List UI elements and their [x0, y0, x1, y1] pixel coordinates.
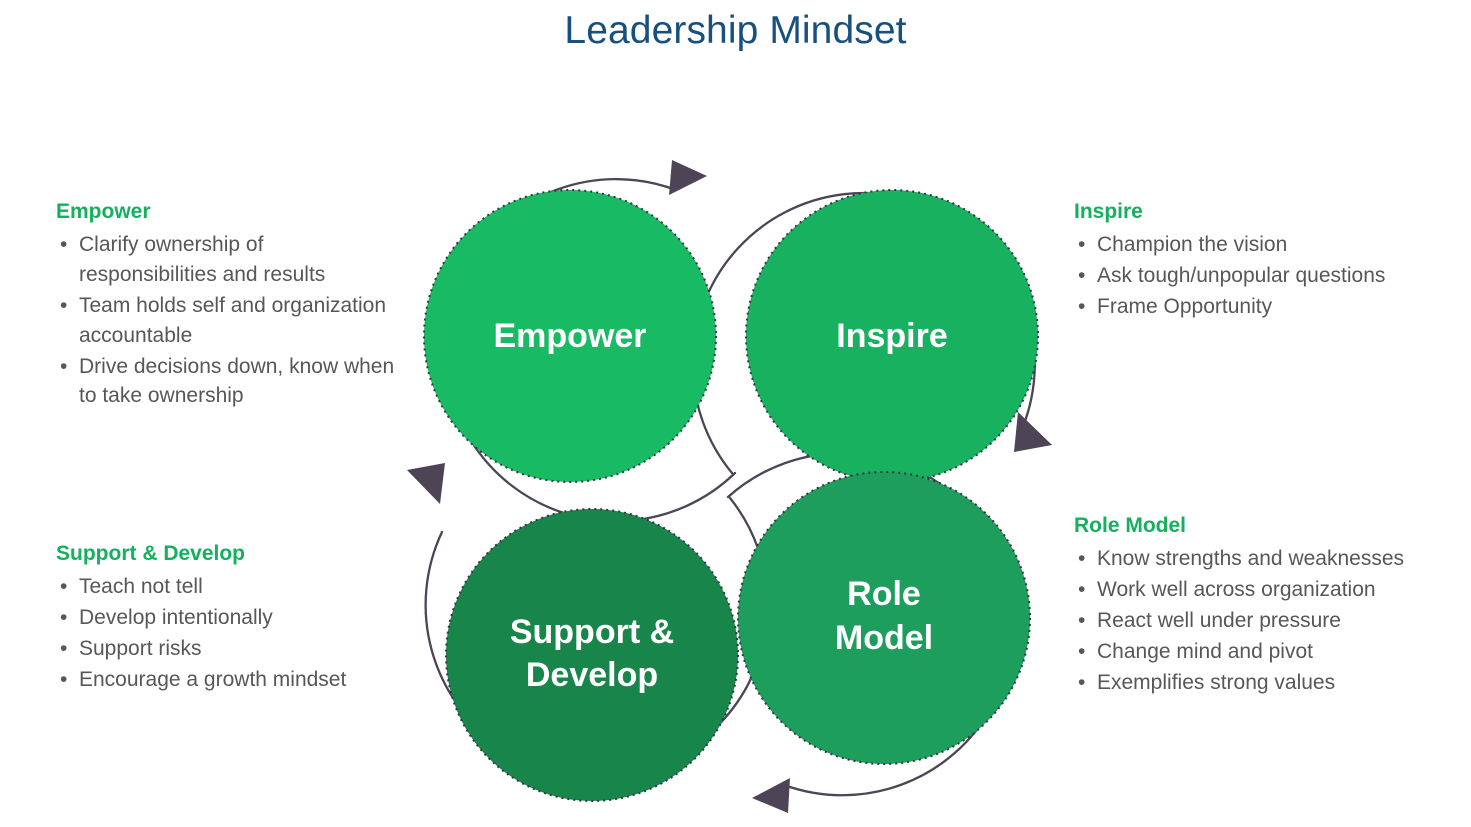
list-item-text: Frame Opportunity — [1097, 295, 1272, 318]
bullet-icon: • — [60, 230, 67, 260]
list-item: •Frame Opportunity — [1074, 292, 1454, 322]
list-item: •Change mind and pivot — [1074, 637, 1464, 667]
panel-role-model: Role Model •Know strengths and weaknesse… — [1074, 512, 1464, 698]
list-item-text: Clarify ownership of responsibilities an… — [79, 233, 325, 286]
list-item-text: Teach not tell — [79, 575, 203, 598]
list-item-text: Know strengths and weaknesses — [1097, 547, 1404, 570]
list-item: •Teach not tell — [56, 572, 401, 602]
panel-inspire: Inspire •Champion the vision •Ask tough/… — [1074, 198, 1454, 323]
node-empower[interactable]: Empower — [424, 190, 716, 482]
list-item: • React well under pressure — [1074, 606, 1464, 636]
list-item-text: Change mind and pivot — [1097, 640, 1313, 663]
cycle-diagram: Empower Inspire Support & Develop Role M… — [380, 140, 1080, 827]
list-item: •Encourage a growth mindset — [56, 665, 401, 695]
node-support-develop[interactable]: Support & Develop — [446, 509, 738, 801]
list-item: •Develop intentionally — [56, 603, 401, 633]
bullet-icon: • — [60, 291, 67, 321]
node-role-model[interactable]: Role Model — [738, 472, 1030, 764]
arrowhead-role-model-to-support — [752, 778, 790, 813]
list-item-text: Ask tough/unpopular questions — [1097, 264, 1385, 287]
panel-inspire-heading: Inspire — [1074, 198, 1454, 226]
list-item: •Support risks — [56, 634, 401, 664]
node-support-develop-label-line1: Support & — [510, 613, 674, 651]
list-item-text: Exemplifies strong values — [1097, 671, 1335, 694]
node-support-develop-label-line2: Develop — [526, 656, 658, 694]
list-item-text: React well under pressure — [1097, 609, 1341, 632]
list-item-text: Team holds self and organization account… — [79, 294, 386, 347]
panel-role-model-heading: Role Model — [1074, 512, 1464, 540]
list-item-text: Develop intentionally — [79, 606, 273, 629]
slide-canvas: Leadership Mindset Empower •Clarify owne… — [0, 0, 1471, 827]
panel-support-develop-heading: Support & Develop — [56, 540, 401, 568]
bullet-icon: • — [60, 572, 67, 602]
list-item: •Ask tough/unpopular questions — [1074, 261, 1454, 291]
panel-support-develop-bullets: •Teach not tell •Develop intentionally •… — [56, 572, 401, 694]
panel-role-model-bullets: •Know strengths and weaknesses •Work wel… — [1074, 544, 1464, 697]
bullet-icon: • — [60, 603, 67, 633]
list-item-text: Champion the vision — [1097, 233, 1287, 256]
list-item-text: Drive decisions down, know when to take … — [79, 355, 394, 408]
arrowhead-empower-to-inspire — [669, 160, 707, 195]
list-item-text: Support risks — [79, 637, 202, 660]
arrowhead-inspire-to-role-model — [1014, 412, 1052, 452]
bullet-icon: • — [60, 665, 67, 695]
list-item: •Drive decisions down, know when to take… — [56, 352, 401, 412]
list-item: •Exemplifies strong values — [1074, 668, 1464, 698]
arrowhead-support-to-empower — [407, 463, 445, 504]
panel-empower-bullets: •Clarify ownership of responsibilities a… — [56, 230, 401, 411]
panel-support-develop: Support & Develop •Teach not tell •Devel… — [56, 540, 401, 696]
panel-inspire-bullets: •Champion the vision •Ask tough/unpopula… — [1074, 230, 1454, 321]
node-empower-label: Empower — [493, 317, 646, 355]
list-item: •Team holds self and organization accoun… — [56, 291, 401, 351]
node-inspire[interactable]: Inspire — [746, 190, 1038, 482]
list-item: •Champion the vision — [1074, 230, 1454, 260]
node-role-model-label-line1: Role — [847, 575, 921, 613]
panel-empower-heading: Empower — [56, 198, 401, 226]
list-item: •Work well across organization — [1074, 575, 1464, 605]
page-title: Leadership Mindset — [0, 8, 1471, 55]
bullet-icon: • — [60, 352, 67, 382]
node-role-model-label-line2: Model — [835, 619, 933, 657]
panel-empower: Empower •Clarify ownership of responsibi… — [56, 198, 401, 412]
node-inspire-label: Inspire — [836, 317, 947, 355]
list-item: •Know strengths and weaknesses — [1074, 544, 1464, 574]
list-item-text: Work well across organization — [1097, 578, 1376, 601]
list-item-text: Encourage a growth mindset — [79, 668, 346, 691]
list-item: •Clarify ownership of responsibilities a… — [56, 230, 401, 290]
bullet-icon: • — [60, 634, 67, 664]
